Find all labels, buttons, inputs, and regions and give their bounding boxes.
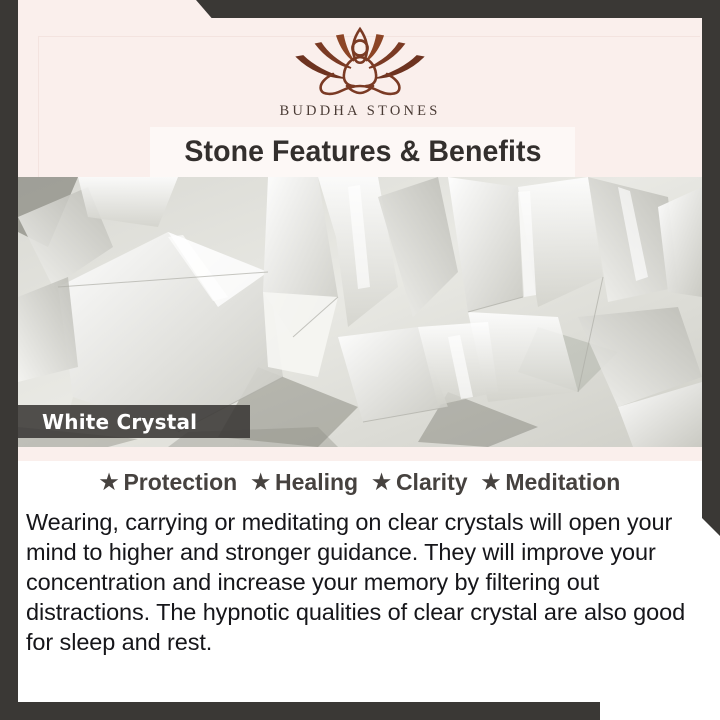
benefit-item-meditation: ★ Meditation [482, 469, 621, 496]
star-icon: ★ [372, 472, 391, 493]
benefit-label: Healing [275, 469, 358, 496]
title-band: Stone Features & Benefits [150, 127, 575, 177]
benefit-label: Clarity [396, 469, 468, 496]
description-text: Wearing, carrying or meditating on clear… [26, 507, 694, 657]
bottom-frame-strip [0, 702, 600, 720]
benefit-label: Meditation [505, 469, 620, 496]
accent-sliver [18, 447, 702, 461]
bottom-right-notch [600, 684, 720, 720]
right-frame-tab [702, 0, 720, 536]
benefit-item-clarity: ★ Clarity [372, 469, 467, 496]
brand-logo: BUDDHA STONES [0, 22, 720, 120]
top-left-bevel-notch [0, 0, 215, 22]
benefit-item-healing: ★ Healing [251, 469, 358, 496]
benefit-label: Protection [123, 469, 237, 496]
star-icon: ★ [251, 472, 270, 493]
brand-name: BUDDHA STONES [0, 103, 720, 120]
lotus-meditation-icon [0, 22, 720, 100]
star-icon: ★ [100, 472, 119, 493]
page-title: Stone Features & Benefits [184, 135, 541, 169]
benefits-row: ★ Protection ★ Healing ★ Clarity ★ Medit… [18, 464, 702, 500]
photo-caption-label: White Crystal [42, 410, 197, 434]
photo-caption: White Crystal [18, 405, 250, 438]
benefit-item-protection: ★ Protection [100, 469, 238, 496]
product-info-card: BUDDHA STONES Stone Features & Benefits [0, 0, 720, 720]
star-icon: ★ [482, 472, 501, 493]
